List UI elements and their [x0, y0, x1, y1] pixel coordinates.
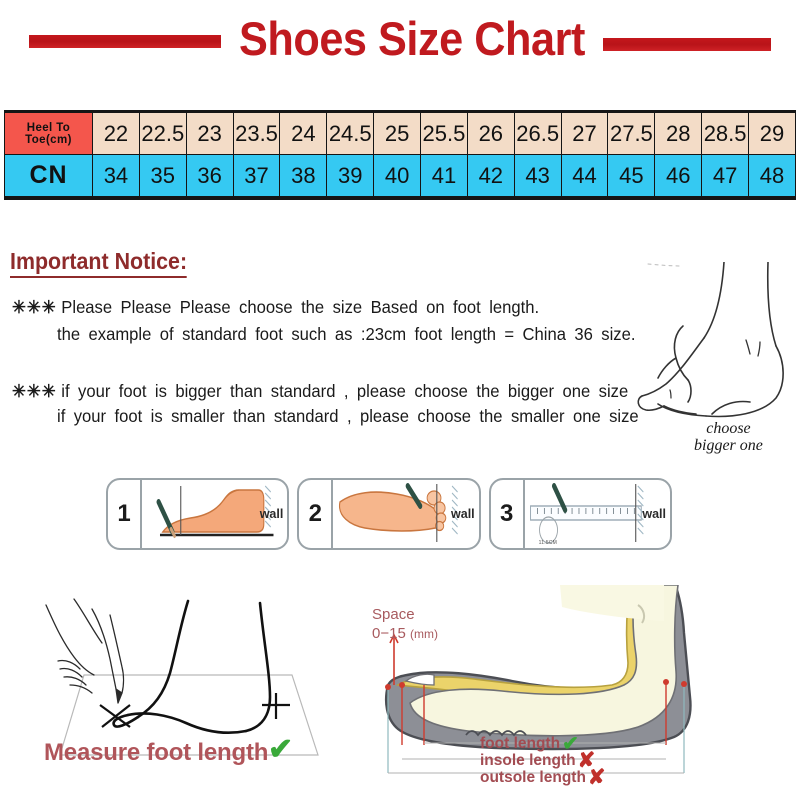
cell-cm: 23: [186, 113, 233, 155]
cell-cn: 39: [327, 155, 374, 197]
check-mark-icon: ✔: [562, 737, 579, 751]
step-panel-1: 1: [106, 478, 289, 550]
step-number-1: 1: [108, 480, 142, 548]
cell-cm: 27: [561, 113, 608, 155]
notice-line-1: ✳✳✳ Please Please Please choose the size…: [12, 297, 539, 318]
step-number-3: 3: [491, 480, 525, 548]
notice-line-1b: the example of standard foot such as :23…: [57, 324, 635, 345]
cell-cn: 41: [421, 155, 468, 197]
cell-cm: 28: [655, 113, 702, 155]
ruler-measure-label: 11.5CM: [539, 540, 557, 546]
row-label-heel-to-toe: Heel To Toe(cm): [5, 113, 93, 155]
cell-cm: 22.5: [139, 113, 186, 155]
notice-stars-icon: ✳✳✳: [12, 381, 57, 401]
space-label-line2-row: 0−15 (mm): [372, 624, 438, 644]
size-table-container: Heel To Toe(cm) 22 22.5 23 23.5 24 24.5 …: [4, 110, 796, 200]
step-number-2: 2: [299, 480, 333, 548]
cell-cn: 45: [608, 155, 655, 197]
cell-cn: 42: [467, 155, 514, 197]
wall-label: wall: [451, 507, 475, 521]
title-banner: Shoes Size Chart: [0, 8, 800, 70]
space-label-unit: (mm): [410, 627, 438, 641]
step-3-illustration: 11.5CM wall: [525, 480, 670, 548]
legend-foot-length: foot length ✔: [480, 735, 730, 752]
legend-outsole-length-label: outsole length: [480, 769, 586, 786]
notice-line-1-text: Please Please Please choose the size Bas…: [61, 297, 539, 317]
cell-cn: 43: [514, 155, 561, 197]
choose-caption-line1: choose: [694, 420, 763, 437]
cell-cn: 37: [233, 155, 280, 197]
step-1-illustration: wall: [142, 480, 287, 548]
shoe-length-legend: foot length ✔ insole length ✘ outsole le…: [480, 735, 730, 786]
notice-line-2-text: if your foot is bigger than standard , p…: [61, 381, 628, 401]
notice-stars-icon: ✳✳✳: [12, 297, 57, 317]
cell-cm: 24: [280, 113, 327, 155]
size-table: Heel To Toe(cm) 22 22.5 23 23.5 24 24.5 …: [4, 112, 796, 197]
cell-cm: 25.5: [421, 113, 468, 155]
legend-foot-length-label: foot length: [480, 735, 560, 752]
title-rule-right: [603, 38, 771, 51]
notice-line-2: ✳✳✳ if your foot is bigger than standard…: [12, 381, 628, 402]
cell-cm: 22: [93, 113, 140, 155]
cell-cm: 26.5: [514, 113, 561, 155]
page-title: Shoes Size Chart: [236, 11, 587, 67]
table-row-cn: CN 34 35 36 37 38 39 40 41 42 43 44 45 4…: [5, 155, 796, 197]
foot-outline-illustration: [636, 262, 800, 437]
cell-cm: 28.5: [702, 113, 749, 155]
wall-label: wall: [260, 507, 284, 521]
cell-cn: 48: [749, 155, 796, 197]
important-notice-heading: Important Notice:: [10, 248, 187, 278]
step-2-illustration: wall: [333, 480, 478, 548]
title-rule-left: [29, 35, 221, 48]
space-label-value: 0−15: [372, 625, 406, 642]
check-mark-icon: ✔: [268, 735, 293, 765]
table-row-heel-to-toe: Heel To Toe(cm) 22 22.5 23 23.5 24 24.5 …: [5, 113, 796, 155]
size-chart-page: Shoes Size Chart Heel To Toe(cm) 22 22.5…: [0, 0, 800, 800]
cross-mark-icon: ✘: [588, 771, 606, 785]
cell-cn: 38: [280, 155, 327, 197]
measure-foot-length-label: Measure foot length: [44, 739, 268, 767]
cell-cn: 46: [655, 155, 702, 197]
measurement-steps: 1: [106, 478, 672, 550]
space-label-line1: Space: [372, 605, 438, 624]
cell-cn: 40: [374, 155, 421, 197]
legend-outsole-length: outsole length ✘: [480, 769, 730, 786]
row-label-cn: CN: [5, 155, 93, 197]
step-panel-3: 3: [489, 478, 672, 550]
cell-cn: 35: [139, 155, 186, 197]
wall-label: wall: [642, 507, 666, 521]
cell-cm: 24.5: [327, 113, 374, 155]
space-gap-label: Space 0−15 (mm): [372, 605, 438, 644]
step-panel-2: 2: [297, 478, 480, 550]
cell-cn: 34: [93, 155, 140, 197]
cell-cm: 25: [374, 113, 421, 155]
legend-insole-length-label: insole length: [480, 752, 576, 769]
cell-cm: 26: [467, 113, 514, 155]
choose-bigger-one-caption: choose bigger one: [694, 420, 763, 454]
cell-cm: 29: [749, 113, 796, 155]
cell-cm: 27.5: [608, 113, 655, 155]
cell-cn: 47: [702, 155, 749, 197]
notice-line-2b: if your foot is smaller than standard , …: [57, 406, 639, 427]
cell-cn: 44: [561, 155, 608, 197]
choose-caption-line2: bigger one: [694, 437, 763, 454]
cell-cm: 23.5: [233, 113, 280, 155]
cell-cn: 36: [186, 155, 233, 197]
